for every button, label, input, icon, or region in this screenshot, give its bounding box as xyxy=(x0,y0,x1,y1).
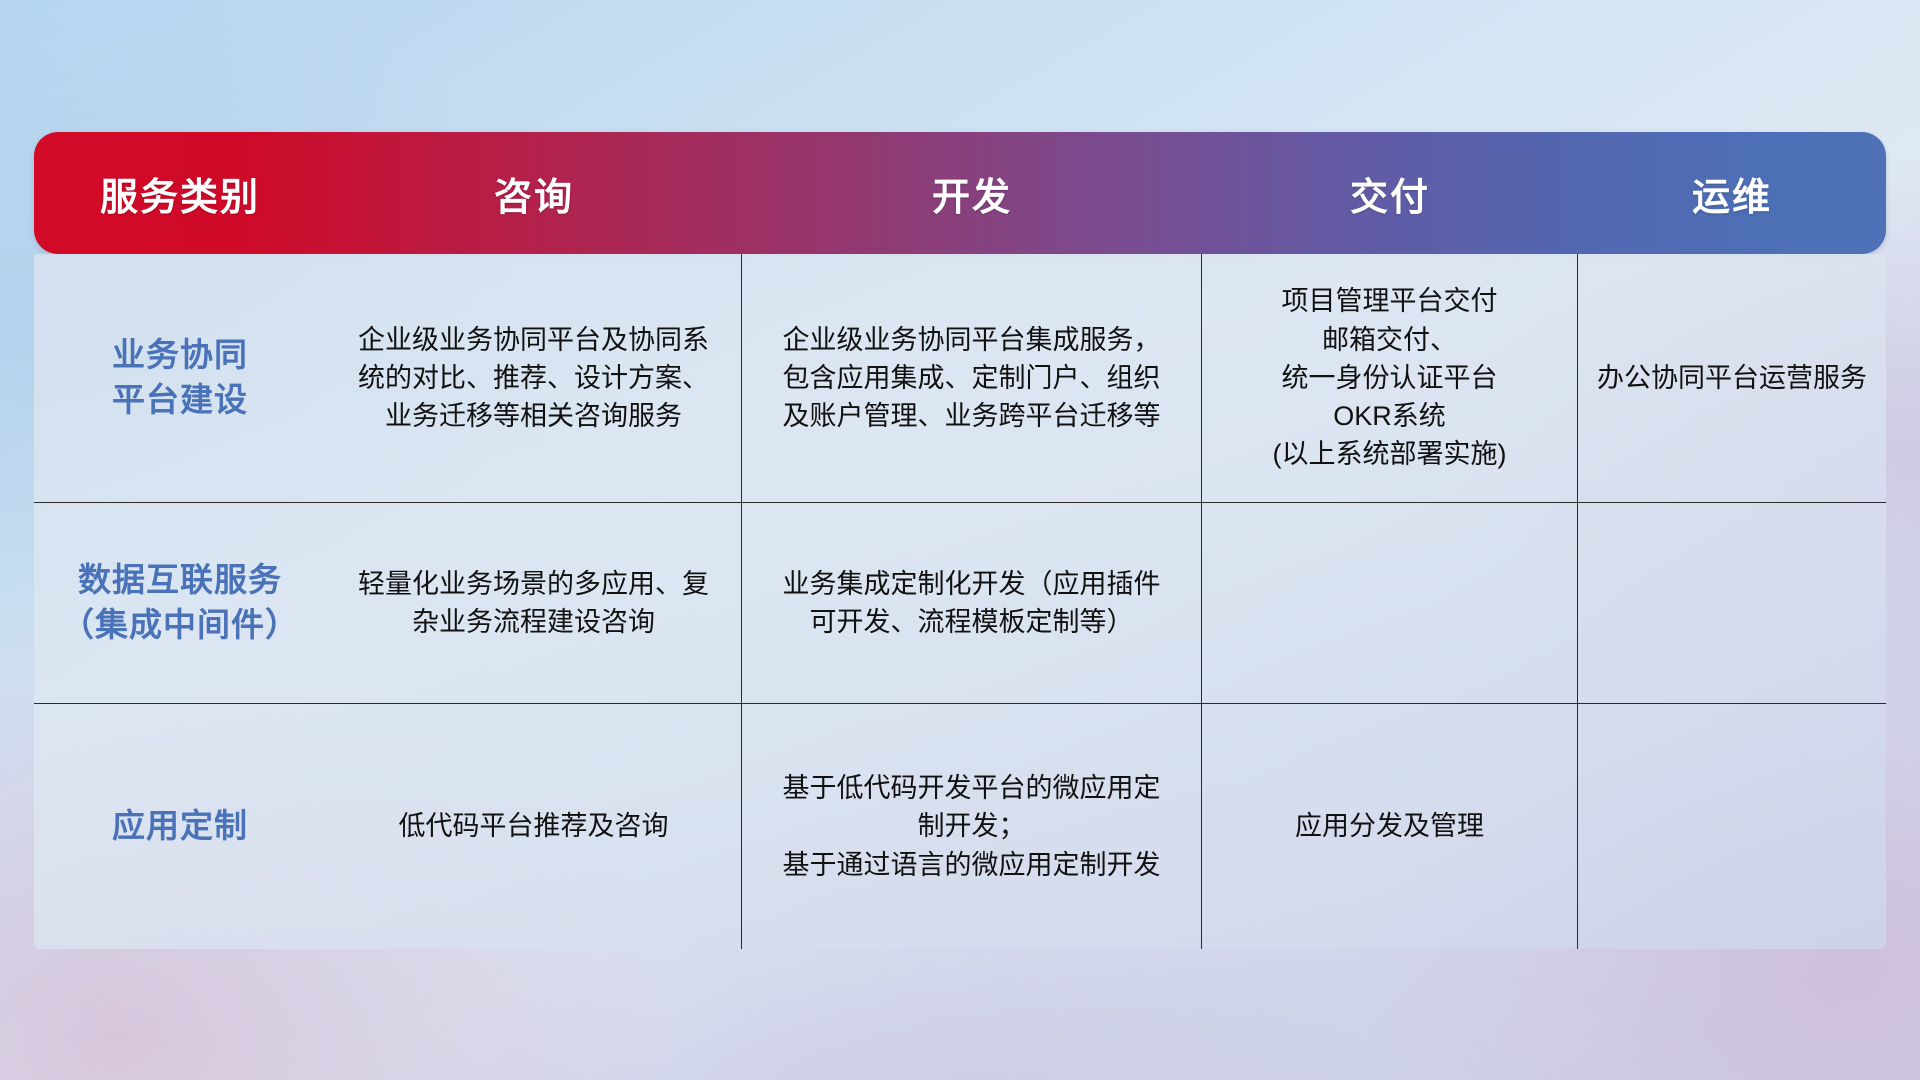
cell-text: 项目管理平台交付 邮箱交付、 统一身份认证平台 OKR系统 (以上系统部署实施) xyxy=(1273,282,1507,474)
cell-text: 低代码平台推荐及咨询 xyxy=(399,807,669,845)
header-label-delivery: 交付 xyxy=(1350,166,1430,221)
cell-consulting: 低代码平台推荐及咨询 xyxy=(326,704,742,949)
cell-development: 企业级业务协同平台集成服务， 包含应用集成、定制门户、组织 及账户管理、业务跨平… xyxy=(742,254,1202,502)
cell-operations xyxy=(1578,704,1886,949)
cell-text: 应用分发及管理 xyxy=(1295,807,1484,845)
header-cell-category: 服务类别 xyxy=(34,132,326,254)
cell-operations: 办公协同平台运营服务 xyxy=(1578,254,1886,502)
header-label-consulting: 咨询 xyxy=(494,166,574,221)
header-cell-operations: 运维 xyxy=(1578,132,1886,254)
cell-delivery xyxy=(1202,503,1578,703)
header-label-operations: 运维 xyxy=(1692,166,1772,221)
cell-text: 基于低代码开发平台的微应用定 制开发； 基于通过语言的微应用定制开发 xyxy=(783,769,1161,884)
row-label-text: 业务协同 平台建设 xyxy=(112,333,248,423)
row-label-cell: 数据互联服务 （集成中间件） xyxy=(34,503,326,703)
row-label-text: 应用定制 xyxy=(112,804,248,849)
cell-consulting: 企业级业务协同平台及协同系 统的对比、推荐、设计方案、 业务迁移等相关咨询服务 xyxy=(326,254,742,502)
cell-delivery: 应用分发及管理 xyxy=(1202,704,1578,949)
header-cell-delivery: 交付 xyxy=(1202,132,1578,254)
header-cell-development: 开发 xyxy=(742,132,1202,254)
cell-text: 业务集成定制化开发（应用插件 可开发、流程模板定制等） xyxy=(783,565,1161,642)
cell-development: 基于低代码开发平台的微应用定 制开发； 基于通过语言的微应用定制开发 xyxy=(742,704,1202,949)
header-label-development: 开发 xyxy=(932,166,1012,221)
cell-text: 企业级业务协同平台及协同系 统的对比、推荐、设计方案、 业务迁移等相关咨询服务 xyxy=(358,321,709,436)
cell-delivery: 项目管理平台交付 邮箱交付、 统一身份认证平台 OKR系统 (以上系统部署实施) xyxy=(1202,254,1578,502)
cell-text: 办公协同平台运营服务 xyxy=(1597,359,1867,397)
table-header-row: 服务类别 咨询 开发 交付 运维 xyxy=(34,132,1886,254)
table-row: 应用定制 低代码平台推荐及咨询 基于低代码开发平台的微应用定 制开发； 基于通过… xyxy=(34,703,1886,949)
header-label-category: 服务类别 xyxy=(100,166,260,221)
service-matrix-table: 服务类别 咨询 开发 交付 运维 业务协同 平台建设 企业级业务协同平台及协同系… xyxy=(34,132,1886,949)
table-row: 业务协同 平台建设 企业级业务协同平台及协同系 统的对比、推荐、设计方案、 业务… xyxy=(34,254,1886,502)
cell-text: 轻量化业务场景的多应用、复 杂业务流程建设咨询 xyxy=(358,565,709,642)
row-label-cell: 应用定制 xyxy=(34,704,326,949)
header-cell-consulting: 咨询 xyxy=(326,132,742,254)
cell-consulting: 轻量化业务场景的多应用、复 杂业务流程建设咨询 xyxy=(326,503,742,703)
cell-development: 业务集成定制化开发（应用插件 可开发、流程模板定制等） xyxy=(742,503,1202,703)
table-body: 业务协同 平台建设 企业级业务协同平台及协同系 统的对比、推荐、设计方案、 业务… xyxy=(34,254,1886,949)
cell-operations xyxy=(1578,503,1886,703)
table-row: 数据互联服务 （集成中间件） 轻量化业务场景的多应用、复 杂业务流程建设咨询 业… xyxy=(34,502,1886,703)
row-label-text: 数据互联服务 （集成中间件） xyxy=(61,558,299,648)
cell-text: 企业级业务协同平台集成服务， 包含应用集成、定制门户、组织 及账户管理、业务跨平… xyxy=(783,321,1161,436)
row-label-cell: 业务协同 平台建设 xyxy=(34,254,326,502)
